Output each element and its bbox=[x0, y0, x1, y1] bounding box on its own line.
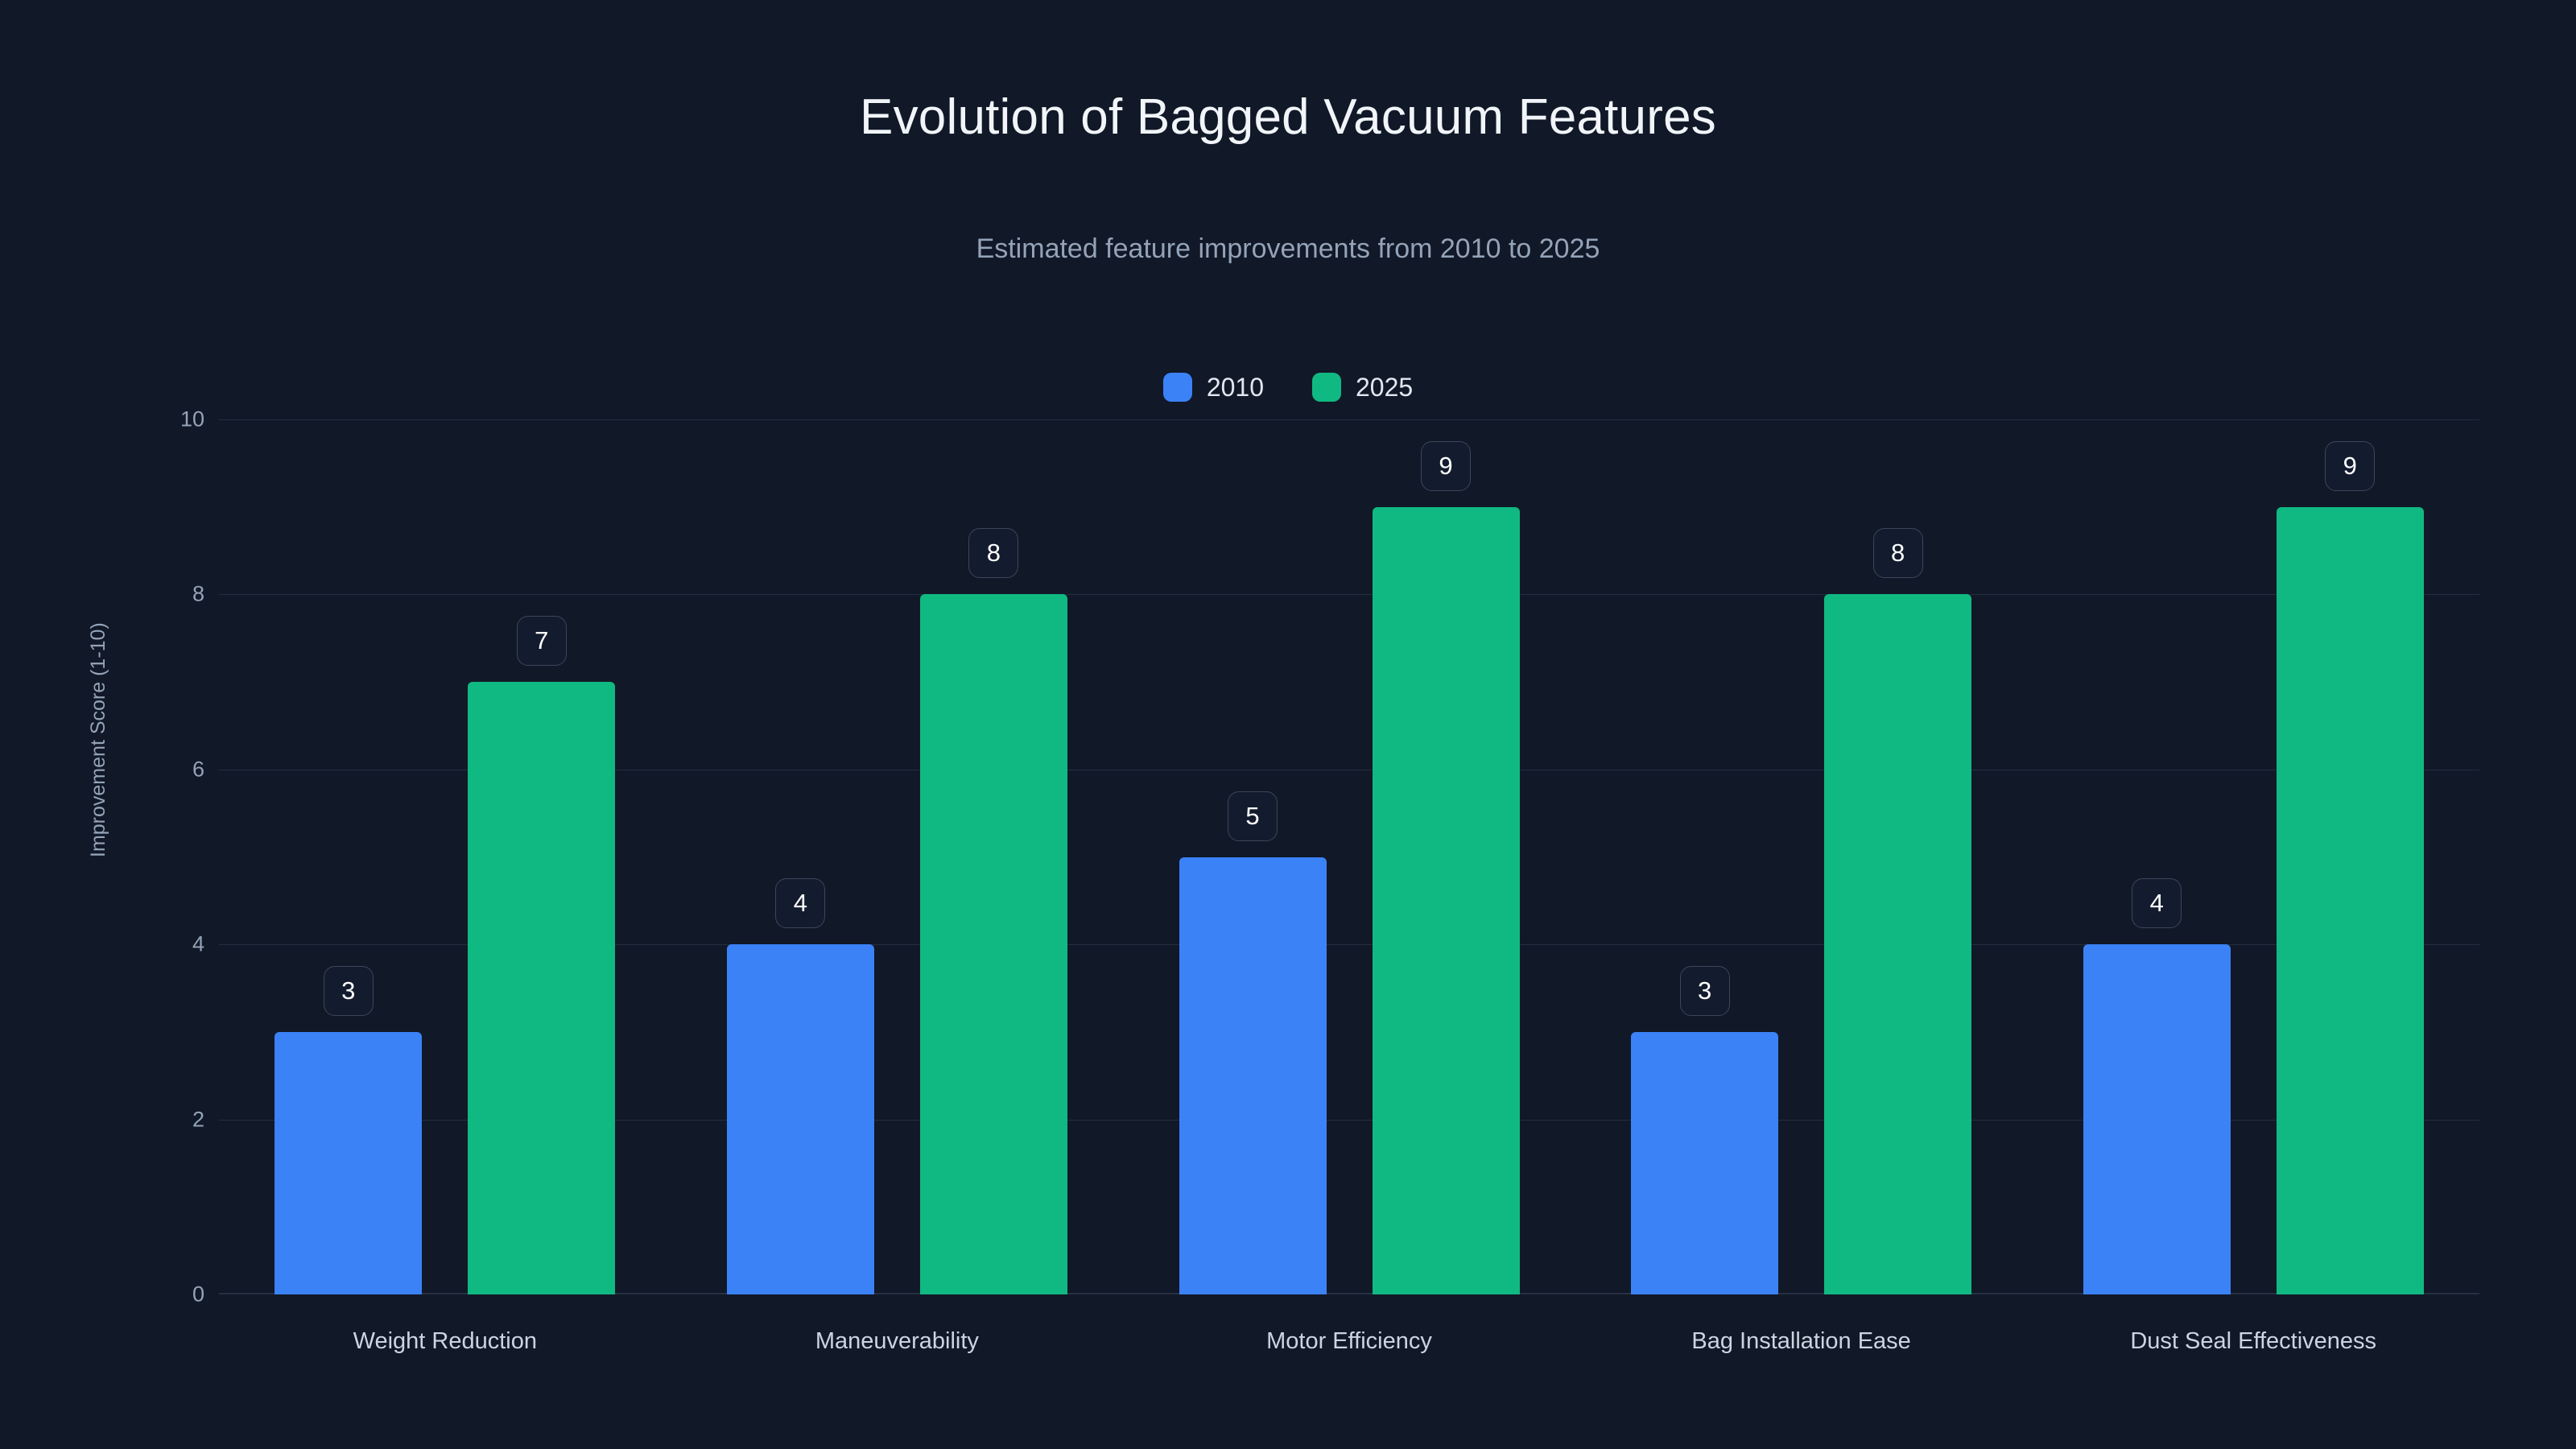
bar-value-label: 5 bbox=[1228, 791, 1278, 841]
bar-value-label: 3 bbox=[1680, 966, 1730, 1016]
bar-2025-bag-installation-ease[interactable] bbox=[1824, 594, 1971, 1294]
x-axis-category-label: Motor Efficiency bbox=[1266, 1328, 1432, 1355]
chart-canvas: Evolution of Bagged Vacuum Features Esti… bbox=[0, 0, 2576, 1449]
legend-item-2025[interactable]: 2025 bbox=[1312, 373, 1413, 402]
legend-item-label: 2025 bbox=[1356, 374, 1413, 400]
bar-2025-weight-reduction[interactable] bbox=[468, 682, 615, 1294]
bar-2010-motor-efficiency[interactable] bbox=[1179, 857, 1327, 1295]
legend-swatch-icon bbox=[1312, 373, 1341, 402]
page-title: Evolution of Bagged Vacuum Features bbox=[0, 89, 2576, 146]
bar-value-label: 8 bbox=[968, 528, 1018, 578]
y-axis-tick-label: 4 bbox=[108, 932, 204, 957]
x-axis-category-label: Bag Installation Ease bbox=[1691, 1328, 1910, 1355]
x-axis-category-label: Dust Seal Effectiveness bbox=[2130, 1328, 2376, 1355]
bar-2025-motor-efficiency[interactable] bbox=[1373, 507, 1520, 1294]
bar-2010-dust-seal-effectiveness[interactable] bbox=[2083, 944, 2231, 1294]
bar-2010-bag-installation-ease[interactable] bbox=[1631, 1032, 1778, 1294]
chart-subtitle: Estimated feature improvements from 2010… bbox=[0, 233, 2576, 265]
y-axis-tick-label: 0 bbox=[108, 1282, 204, 1307]
y-axis-tick-label: 6 bbox=[108, 757, 204, 782]
bar-value-label: 3 bbox=[324, 966, 374, 1016]
bar-2010-maneuverability[interactable] bbox=[727, 944, 874, 1294]
bar-value-label: 9 bbox=[1421, 441, 1471, 491]
bar-value-label: 9 bbox=[2325, 441, 2375, 491]
y-axis-tick-label: 8 bbox=[108, 582, 204, 607]
bar-value-label: 4 bbox=[775, 878, 825, 928]
bar-value-label: 4 bbox=[2132, 878, 2182, 928]
legend-swatch-icon bbox=[1163, 373, 1192, 402]
y-axis-tick-label: 10 bbox=[108, 407, 204, 432]
legend-item-2010[interactable]: 2010 bbox=[1163, 373, 1264, 402]
y-axis-tick-label: 2 bbox=[108, 1107, 204, 1132]
bar-2025-maneuverability[interactable] bbox=[920, 594, 1067, 1294]
bar-2010-weight-reduction[interactable] bbox=[275, 1032, 422, 1294]
bar-value-label: 8 bbox=[1873, 528, 1923, 578]
bar-2025-dust-seal-effectiveness[interactable] bbox=[2277, 507, 2424, 1294]
plot-area: 3748593849 bbox=[219, 419, 2479, 1294]
gridline bbox=[219, 594, 2479, 595]
x-axis-category-label: Weight Reduction bbox=[353, 1328, 537, 1355]
gridline bbox=[219, 419, 2479, 420]
chart-legend: 20102025 bbox=[0, 373, 2576, 402]
x-axis-category-label: Maneuverability bbox=[815, 1328, 979, 1355]
bar-value-label: 7 bbox=[517, 616, 567, 666]
y-axis-title: Improvement Score (1-10) bbox=[87, 622, 110, 857]
legend-item-label: 2010 bbox=[1207, 374, 1264, 400]
